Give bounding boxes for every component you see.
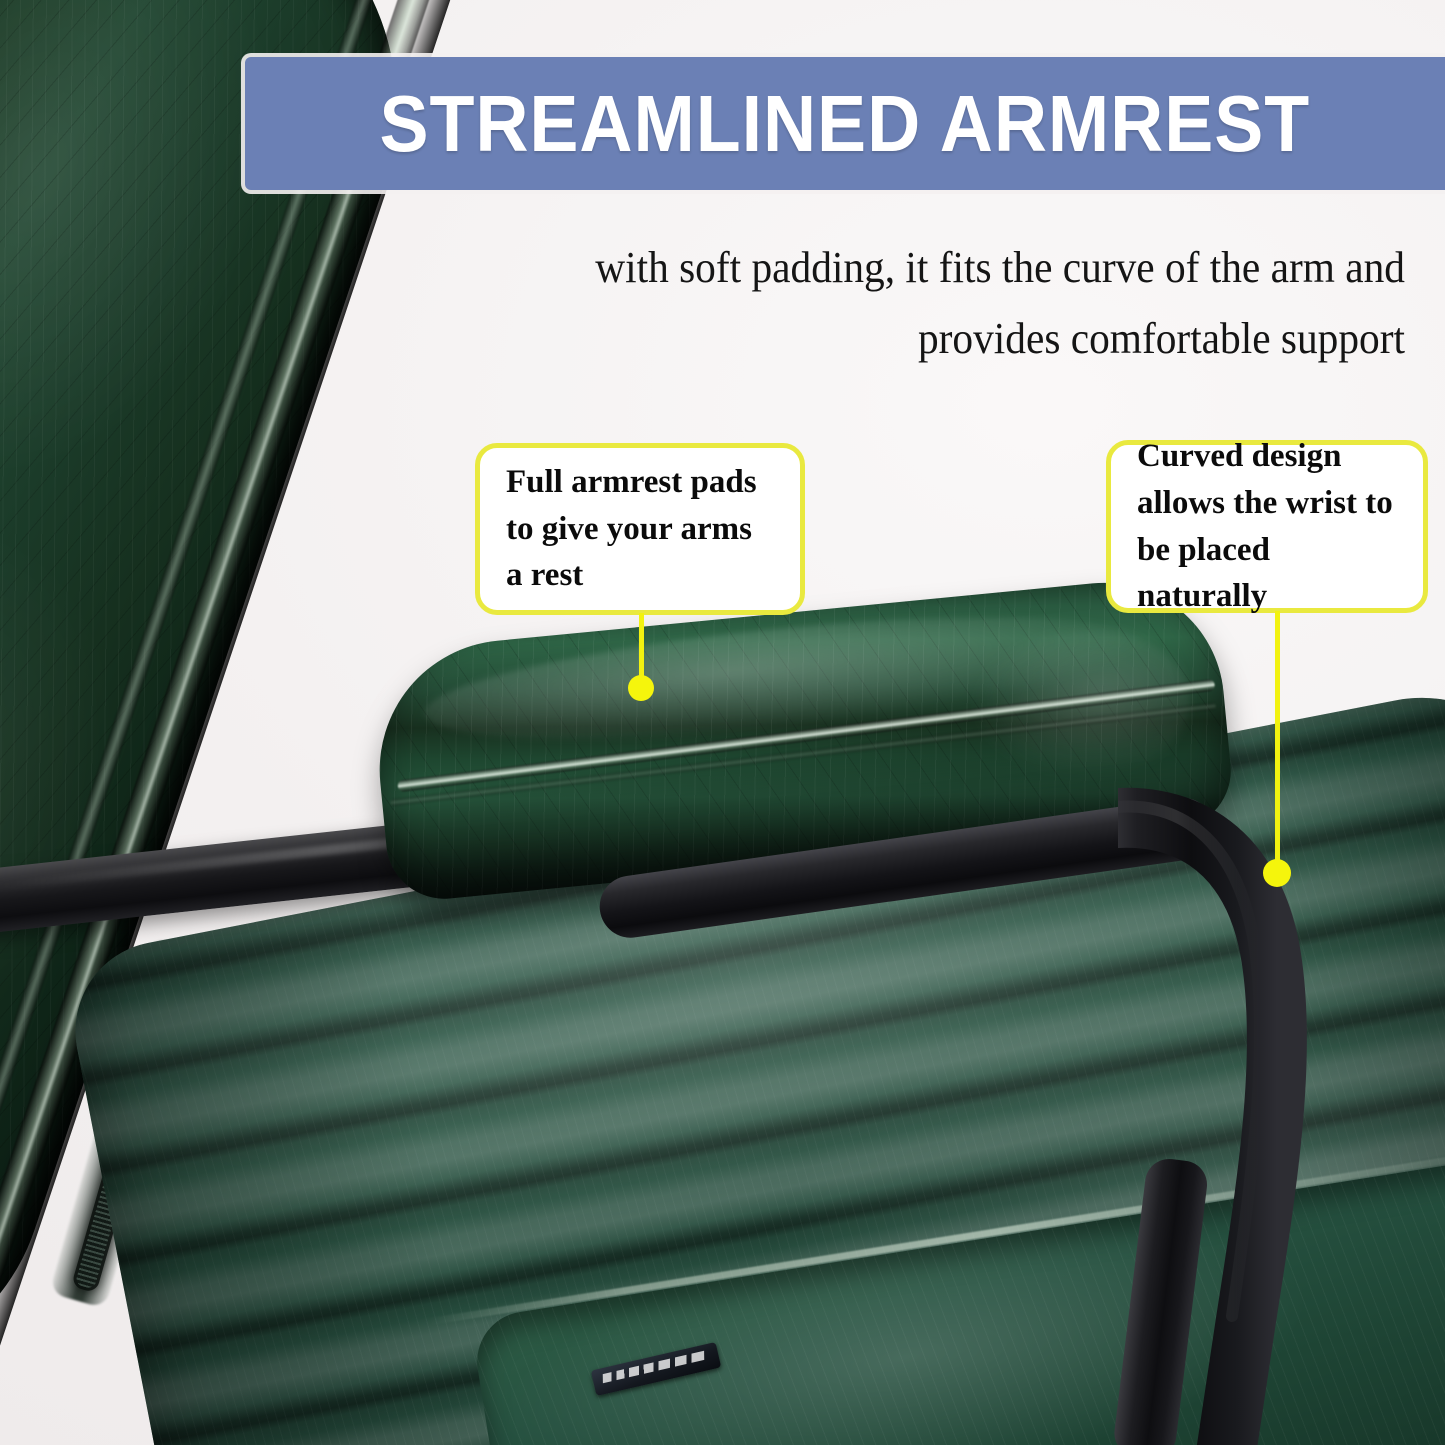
callout-right-text: Curved design allows the wrist to be pla… bbox=[1111, 433, 1423, 620]
callout-right-leader-line bbox=[1275, 611, 1280, 866]
callout-left-leader-line bbox=[639, 613, 644, 681]
callout-left-line-2: to give your arms bbox=[506, 506, 757, 553]
subtitle: with soft padding, it fits the curve of … bbox=[395, 232, 1405, 375]
subtitle-line-1: with soft padding, it fits the curve of … bbox=[456, 232, 1405, 303]
header-banner: STREAMLINED ARMREST bbox=[245, 57, 1445, 190]
product-feature-image: STREAMLINED ARMREST with soft padding, i… bbox=[0, 0, 1445, 1445]
callout-right-line-2: allows the wrist to bbox=[1137, 480, 1397, 527]
callout-right-line-1: Curved design bbox=[1137, 433, 1397, 480]
callout-left-marker-dot bbox=[628, 675, 654, 701]
callout-right-marker-dot bbox=[1263, 859, 1291, 887]
callout-left-text: Full armrest pads to give your arms a re… bbox=[480, 459, 783, 600]
subtitle-line-2: provides comfortable support bbox=[456, 303, 1405, 374]
callout-full-armrest-pads: Full armrest pads to give your arms a re… bbox=[475, 443, 805, 615]
callout-curved-design: Curved design allows the wrist to be pla… bbox=[1106, 440, 1428, 613]
page-title: STREAMLINED ARMREST bbox=[380, 84, 1311, 164]
callout-left-line-3: a rest bbox=[506, 552, 757, 599]
callout-left-line-1: Full armrest pads bbox=[506, 459, 757, 506]
callout-right-line-3: be placed naturally bbox=[1137, 527, 1397, 621]
office-chair-photo bbox=[0, 0, 1445, 1445]
